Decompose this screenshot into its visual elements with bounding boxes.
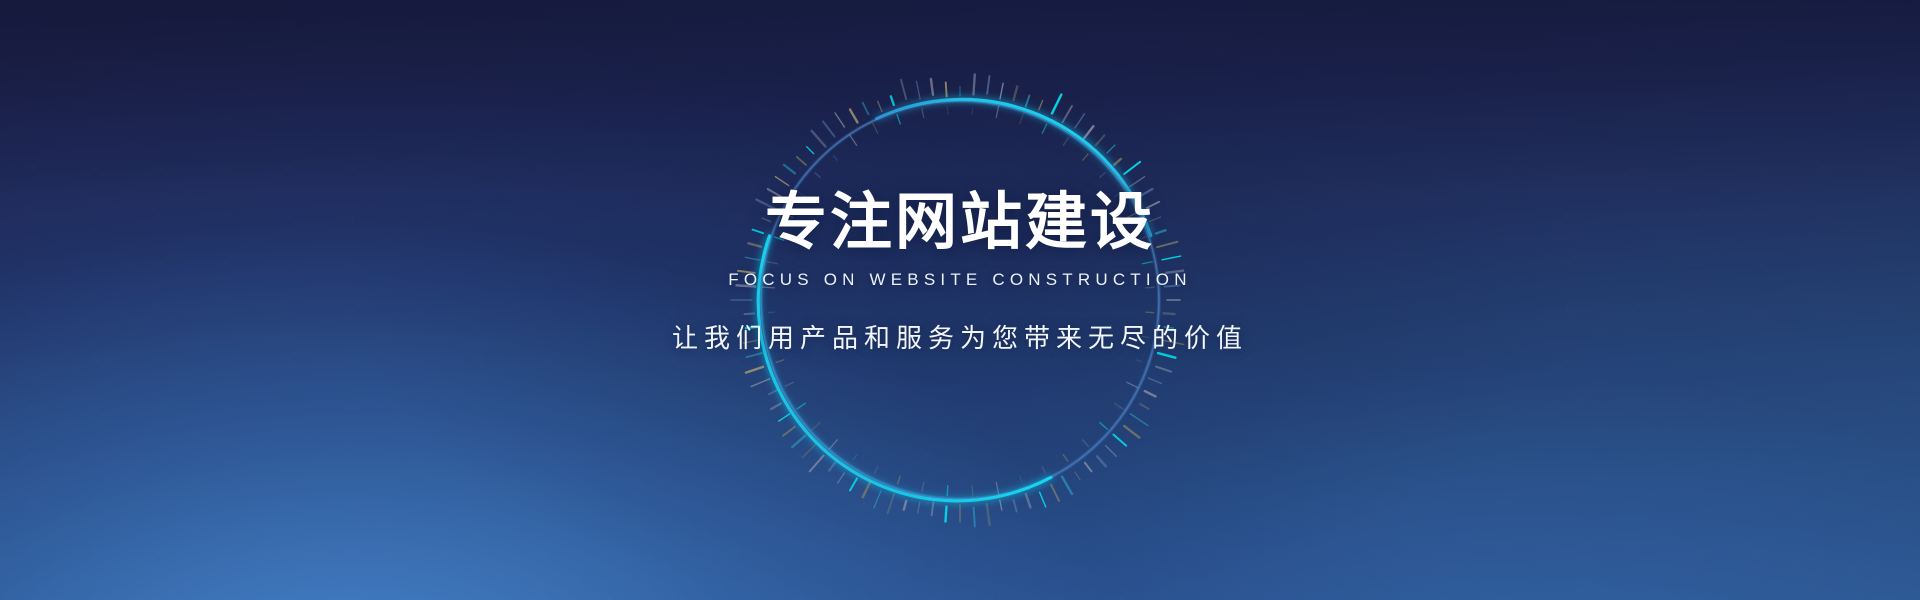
banner-tagline: 让我们用产品和服务为您带来无尽的价值	[0, 318, 1920, 355]
tick-mark-inner	[797, 403, 805, 409]
tick-mark	[1140, 404, 1149, 409]
tick-mark	[812, 131, 826, 147]
tick-mark-inner	[922, 109, 924, 118]
tick-mark-inner	[776, 360, 784, 363]
tick-mark	[850, 109, 858, 122]
tick-mark	[1085, 463, 1092, 472]
tick-mark	[1114, 159, 1121, 165]
tick-mark	[878, 101, 882, 111]
tick-mark	[904, 501, 906, 510]
tick-mark	[1113, 435, 1126, 446]
tick-mark-inner	[1063, 138, 1068, 145]
tick-mark-inner	[1100, 423, 1108, 430]
tick-mark	[945, 507, 946, 522]
tick-mark	[810, 456, 824, 472]
tick-mark	[1156, 367, 1171, 372]
tick-mark	[1075, 472, 1080, 479]
tick-mark	[1148, 378, 1161, 383]
tick-mark	[1145, 391, 1156, 396]
tick-mark	[807, 147, 814, 154]
tick-mark-inner	[1127, 382, 1138, 387]
tick-mark	[1063, 106, 1073, 122]
tick-mark	[769, 390, 777, 394]
tick-mark-inner	[785, 382, 793, 386]
tick-mark-inner	[947, 486, 948, 496]
tick-mark-inner	[898, 476, 901, 484]
tick-mark-inner	[873, 123, 878, 133]
tick-mark	[932, 502, 934, 515]
tick-mark	[1000, 500, 1002, 510]
tick-mark	[1039, 100, 1043, 109]
tick-mark-inner	[996, 482, 998, 494]
tick-mark	[835, 113, 844, 127]
tick-mark	[1051, 485, 1059, 501]
tick-mark-inner	[947, 106, 948, 114]
tick-mark-inner	[850, 135, 857, 145]
tick-mark	[946, 82, 947, 96]
banner-subtitle: FOCUS ON WEBSITE CONSTRUCTION	[0, 270, 1920, 290]
tick-mark-inner	[996, 106, 998, 118]
tick-mark	[779, 414, 790, 421]
tick-mark	[863, 103, 869, 115]
tick-mark	[1124, 426, 1139, 438]
tick-mark	[973, 74, 974, 94]
tick-mark	[916, 81, 920, 99]
tick-mark	[1062, 477, 1072, 494]
tick-mark	[784, 165, 795, 174]
tick-mark	[838, 473, 845, 483]
tick-mark-inner	[853, 455, 856, 460]
tick-mark	[1026, 95, 1030, 106]
tick-mark-inner	[897, 114, 900, 123]
tick-mark-inner	[1115, 403, 1124, 409]
tick-mark	[1097, 456, 1106, 466]
tick-mark	[888, 494, 894, 513]
tick-mark-inner	[1020, 476, 1022, 482]
tick-mark	[1106, 446, 1117, 457]
tick-mark	[891, 96, 894, 105]
tick-mark	[771, 404, 781, 410]
tick-mark	[918, 502, 920, 513]
tick-mark	[775, 177, 788, 186]
tick-mark-inner	[922, 482, 924, 491]
tick-mark	[797, 157, 806, 165]
tick-mark	[974, 508, 975, 527]
tick-mark-inner	[875, 467, 878, 473]
tick-mark	[901, 80, 906, 99]
tick-mark	[850, 478, 857, 490]
page-title: 专注网站建设	[0, 190, 1920, 256]
tick-mark	[1040, 492, 1046, 507]
tick-mark-inner	[812, 423, 820, 430]
tick-mark	[792, 436, 805, 447]
tick-mark	[1000, 83, 1003, 99]
tick-mark-inner	[1136, 360, 1142, 362]
tick-mark	[1026, 494, 1031, 507]
tick-mark	[1130, 414, 1147, 426]
tick-mark	[874, 491, 881, 508]
tick-mark	[987, 504, 990, 525]
tick-mark	[1124, 162, 1140, 174]
tick-mark	[1096, 135, 1105, 145]
tick-mark-inner	[972, 486, 973, 497]
tick-mark	[1075, 114, 1084, 128]
tick-mark-inner	[1083, 154, 1088, 160]
tick-mark-inner	[829, 440, 837, 449]
tick-mark-inner	[1042, 467, 1045, 473]
tick-mark	[1014, 500, 1017, 512]
tick-mark-inner	[1042, 124, 1046, 133]
tick-mark	[751, 379, 769, 387]
tick-mark-inner	[833, 156, 837, 161]
tick-mark	[746, 367, 763, 373]
banner-text-block: 专注网站建设 FOCUS ON WEBSITE CONSTRUCTION 让我们…	[0, 190, 1920, 355]
tick-mark	[987, 76, 989, 94]
tick-mark	[829, 463, 835, 471]
tick-mark	[1052, 95, 1061, 114]
tick-mark	[1014, 87, 1018, 101]
tick-mark-inner	[1063, 455, 1067, 462]
tick-mark	[783, 427, 795, 436]
tick-mark	[931, 79, 933, 95]
tick-mark-inner	[1020, 113, 1024, 123]
tick-mark	[802, 444, 815, 457]
tick-mark	[863, 483, 870, 497]
tick-mark	[1130, 177, 1145, 187]
tick-mark	[823, 122, 835, 137]
tick-mark-inner	[815, 173, 820, 178]
tick-mark-inner	[1100, 173, 1105, 178]
tick-mark	[1084, 126, 1093, 138]
tick-mark	[1107, 145, 1115, 153]
tick-mark-inner	[1083, 440, 1089, 447]
hero-banner: 专注网站建设 FOCUS ON WEBSITE CONSTRUCTION 让我们…	[0, 0, 1920, 600]
